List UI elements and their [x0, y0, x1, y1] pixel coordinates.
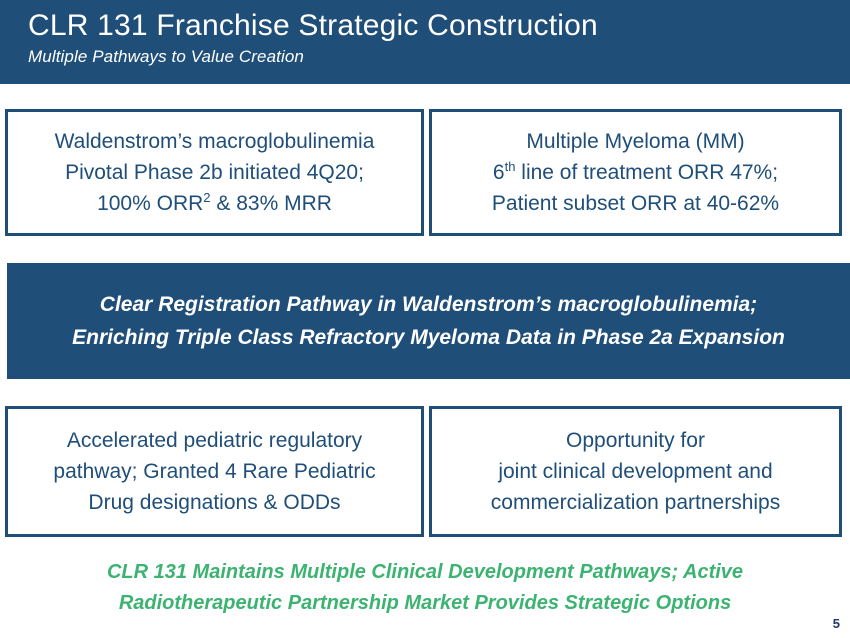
box-partnership-line2: joint clinical development and: [498, 460, 772, 483]
box-waldenstrom: Waldenstrom’s macroglobulinemia Pivotal …: [5, 109, 424, 236]
box-pediatric-line2: pathway; Granted 4 Rare Pediatric: [53, 460, 375, 483]
box-multiple-myeloma-line1: Multiple Myeloma (MM): [526, 130, 744, 153]
banner-line1: Clear Registration Pathway in Waldenstro…: [100, 293, 757, 316]
box-waldenstrom-line1: Waldenstrom’s macroglobulinemia: [55, 130, 375, 153]
box-waldenstrom-line2: Pivotal Phase 2b initiated 4Q20;: [65, 161, 364, 184]
box-multiple-myeloma-line2-post: line of treatment ORR 47%;: [515, 161, 778, 184]
footer-line1: CLR 131 Maintains Multiple Clinical Deve…: [107, 561, 743, 583]
banner-registration-pathway: Clear Registration Pathway in Waldenstro…: [7, 263, 850, 379]
box-partnership-line3: commercialization partnerships: [491, 491, 780, 514]
footer-line2: Radiotherapeutic Partnership Market Prov…: [119, 592, 731, 614]
footer-summary-text: CLR 131 Maintains Multiple Clinical Deve…: [0, 557, 850, 619]
box-partnership-line1: Opportunity for: [566, 429, 705, 452]
page-number: 5: [833, 616, 840, 632]
slide-header: CLR 131 Franchise Strategic Construction…: [0, 0, 850, 84]
box-waldenstrom-line3-pre: 100% ORR: [97, 192, 203, 215]
banner-line2: Enriching Triple Class Refractory Myelom…: [72, 326, 785, 349]
box-pediatric-pathway: Accelerated pediatric regulatory pathway…: [5, 406, 424, 537]
box-waldenstrom-text: Waldenstrom’s macroglobulinemia Pivotal …: [49, 126, 381, 219]
box-partnership-opportunity: Opportunity for joint clinical developme…: [429, 406, 842, 537]
box-pediatric-pathway-text: Accelerated pediatric regulatory pathway…: [47, 425, 381, 518]
box-multiple-myeloma-ordinal-suffix: th: [505, 159, 516, 174]
page-subtitle: Multiple Pathways to Value Creation: [28, 46, 850, 68]
box-waldenstrom-line3-post: & 83% MRR: [211, 192, 332, 215]
banner-text: Clear Registration Pathway in Waldenstro…: [72, 288, 785, 354]
box-multiple-myeloma-text: Multiple Myeloma (MM) 6th line of treatm…: [486, 126, 785, 219]
slide: CLR 131 Franchise Strategic Construction…: [0, 0, 850, 638]
box-multiple-myeloma-line3: Patient subset ORR at 40-62%: [492, 192, 779, 215]
box-pediatric-line1: Accelerated pediatric regulatory: [67, 429, 362, 452]
page-title: CLR 131 Franchise Strategic Construction: [28, 6, 850, 46]
box-multiple-myeloma: Multiple Myeloma (MM) 6th line of treatm…: [429, 109, 842, 236]
box-pediatric-line3: Drug designations & ODDs: [88, 491, 340, 514]
box-partnership-opportunity-text: Opportunity for joint clinical developme…: [485, 425, 786, 518]
box-waldenstrom-footnote-marker: 2: [203, 190, 210, 205]
footer-summary: CLR 131 Maintains Multiple Clinical Deve…: [0, 557, 850, 619]
box-multiple-myeloma-line2-pre: 6: [493, 161, 505, 184]
